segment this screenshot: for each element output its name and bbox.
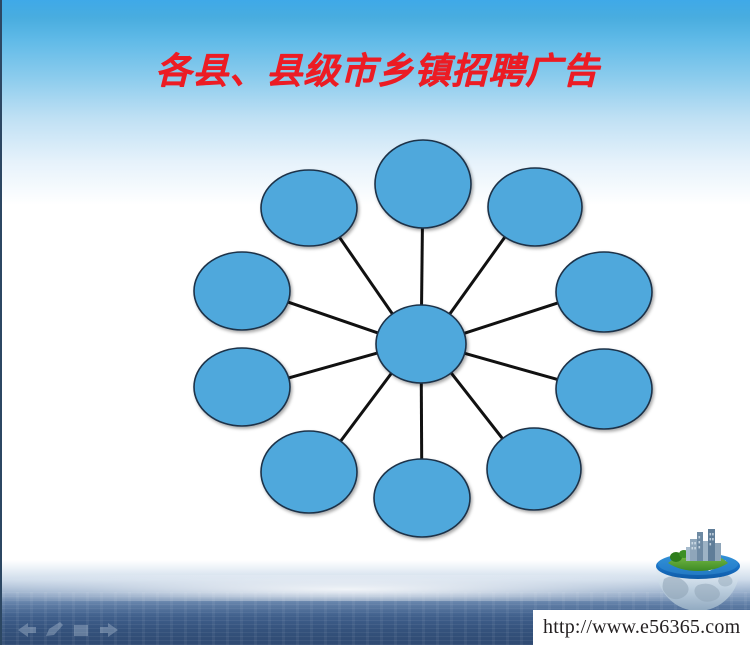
node-top[interactable]	[375, 140, 471, 228]
spoke-node-top	[422, 228, 423, 305]
spoke-node-upper-left	[340, 237, 393, 314]
center-node[interactable]	[376, 305, 466, 383]
node-bottom[interactable]	[374, 459, 470, 537]
node-left-upper[interactable]	[194, 252, 290, 330]
spoke-node-left-upper	[288, 302, 378, 333]
node-right-lower[interactable]	[556, 349, 652, 429]
node-upper-right[interactable]	[488, 168, 582, 246]
spoke-node-left-lower	[289, 353, 378, 378]
radial-diagram-svg	[2, 0, 750, 645]
node-lower-right[interactable]	[487, 428, 581, 510]
spoke-node-lower-right	[451, 373, 502, 439]
spoke-node-upper-right	[450, 237, 505, 314]
node-left-lower[interactable]	[194, 348, 290, 426]
slide-canvas: 各县、县级市乡镇招聘广告	[0, 0, 750, 645]
radial-diagram	[2, 0, 750, 645]
node-lower-left[interactable]	[261, 431, 357, 513]
globe-city-skyline	[686, 529, 721, 561]
spoke-node-lower-left	[341, 373, 392, 441]
node-right-upper[interactable]	[556, 252, 652, 332]
spoke-node-right-lower	[465, 353, 558, 379]
url-watermark-box: http://www.e56365.com	[533, 610, 750, 645]
spoke-node-right-upper	[464, 303, 558, 333]
url-watermark-text: http://www.e56365.com	[533, 616, 740, 639]
globe-city-logo	[650, 527, 746, 619]
node-upper-left[interactable]	[261, 170, 357, 246]
nodes-layer	[194, 140, 652, 537]
